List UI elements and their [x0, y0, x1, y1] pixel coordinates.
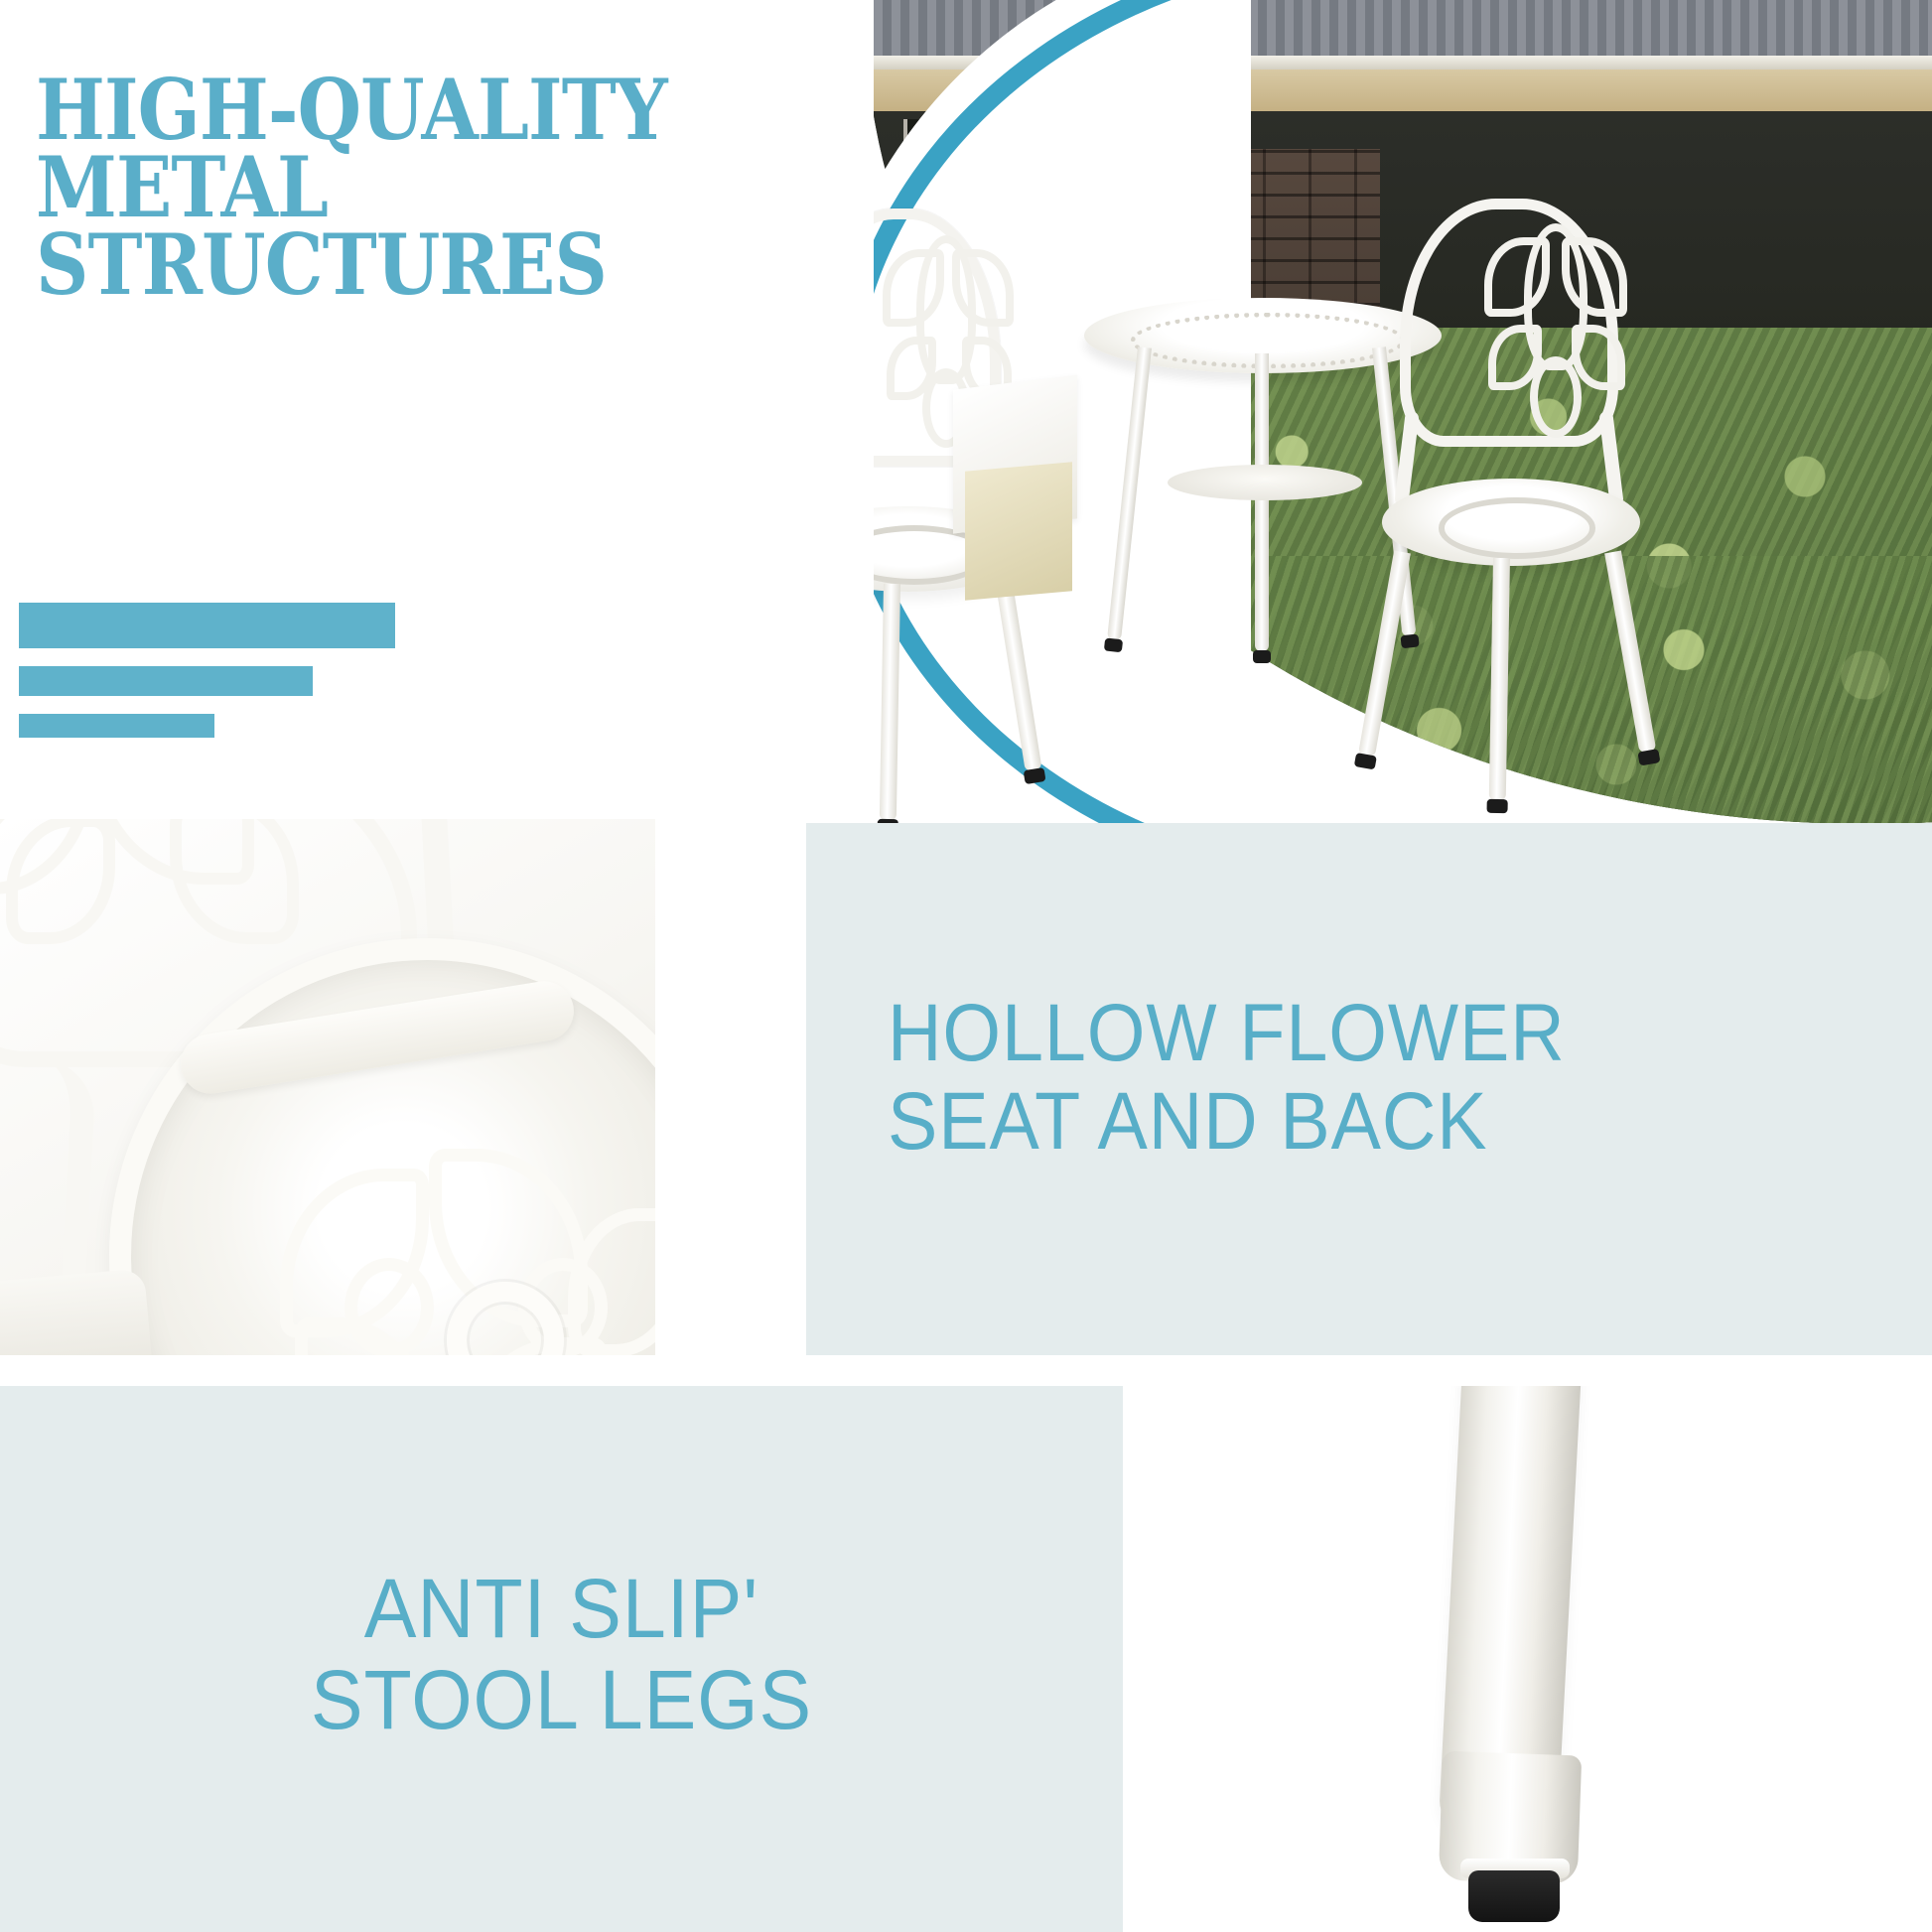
feature-line-1: Hollow Flower [888, 990, 1810, 1078]
chair-seat [1382, 479, 1640, 566]
chair-leg [1489, 558, 1510, 800]
accent-bar-3 [19, 714, 214, 738]
accent-bar-group [19, 603, 395, 756]
feature-panel-hollow-flower: Hollow Flower Seat And Back [806, 823, 1932, 1355]
accent-bar-2 [19, 666, 313, 696]
scroll-motif [170, 819, 299, 944]
main-headline: High-Quality Metal Structures [36, 71, 804, 304]
bistro-chair-right [1360, 199, 1698, 823]
anti-slip-foot-cap [1468, 1870, 1560, 1922]
table-leg [1255, 353, 1269, 651]
chair-leg [1604, 551, 1656, 754]
headline-line-2: Metal Structures [36, 149, 804, 304]
table-leg [1107, 346, 1152, 640]
stool-leg-photo [1123, 1386, 1932, 1932]
hero-product-photo [874, 0, 1932, 823]
seat-detail-photo [0, 819, 655, 1355]
floral-cutout [345, 1258, 434, 1355]
feature-panel-anti-slip: Anti Slip' Stool Legs [0, 1386, 1123, 1932]
infographic-page: High-Quality Metal Structures [0, 0, 1932, 1932]
feature-line-1: Anti Slip' [34, 1563, 1089, 1654]
scroll-motif [1530, 356, 1582, 438]
chair-leg [880, 584, 900, 820]
scroll-motif [1572, 325, 1625, 390]
accent-bar-1 [19, 603, 395, 648]
feature-text-anti-slip: Anti Slip' Stool Legs [34, 1563, 1089, 1746]
table-lower-shelf [1168, 465, 1362, 500]
feature-line-2: Stool Legs [34, 1654, 1089, 1745]
feature-text-hollow-flower: Hollow Flower Seat And Back [888, 990, 1810, 1166]
chair-leg [1358, 551, 1411, 758]
chair-backrest [1400, 199, 1618, 447]
cushion-backdrop [965, 462, 1072, 600]
chair-base-block [0, 1268, 153, 1355]
feature-line-2: Seat And Back [888, 1078, 1810, 1167]
chair-leg [995, 577, 1041, 771]
